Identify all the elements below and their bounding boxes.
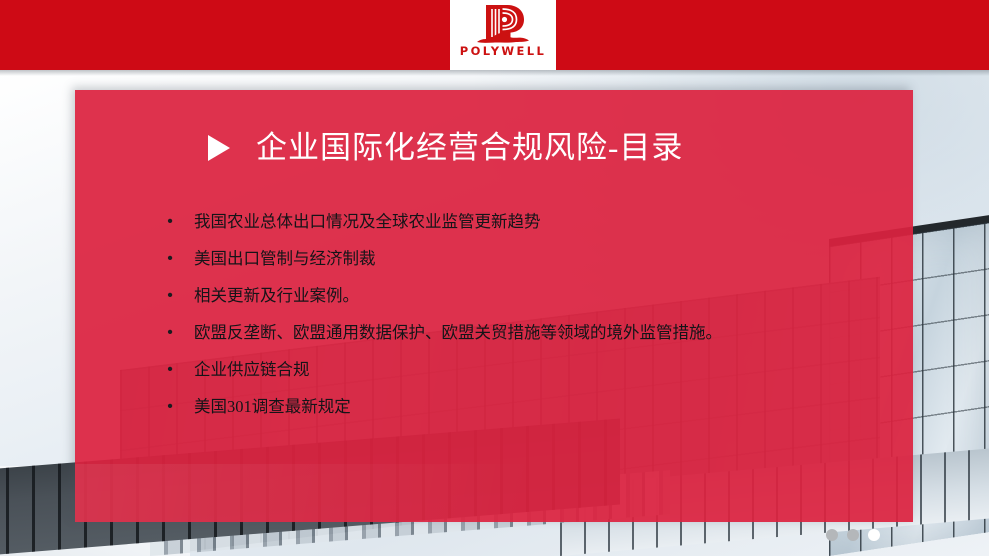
list-item-label: 企业供应链合规 xyxy=(194,360,310,380)
slide-title-row: 企业国际化经营合规风险-目录 xyxy=(208,132,683,163)
list-item[interactable]: • 企业供应链合规 xyxy=(167,360,867,380)
play-triangle-icon xyxy=(208,135,230,161)
polywell-p-logo-icon xyxy=(474,3,532,47)
bullet-marker: • xyxy=(167,397,173,417)
list-item[interactable]: • 我国农业总体出口情况及全球农业监管更新趋势 xyxy=(167,212,867,232)
bullet-marker: • xyxy=(167,323,173,343)
list-item-label: 美国301调查最新规定 xyxy=(194,397,351,417)
bullet-marker: • xyxy=(167,360,173,380)
list-item[interactable]: • 美国出口管制与经济制裁 xyxy=(167,249,867,269)
logo-container: POLYWELL xyxy=(450,0,556,70)
list-item-label: 相关更新及行业案例。 xyxy=(194,286,359,306)
list-item-label: 我国农业总体出口情况及全球农业监管更新趋势 xyxy=(194,212,541,232)
bullet-marker: • xyxy=(167,249,173,269)
presentation-slide: POLYWELL 企业国际化经营合规风险-目录 • 我国农业总体出口情况及全球农… xyxy=(0,0,989,556)
bullet-marker: • xyxy=(167,212,173,232)
list-item[interactable]: • 相关更新及行业案例。 xyxy=(167,286,867,306)
slide-pagination[interactable] xyxy=(826,529,880,541)
page-dot-3[interactable] xyxy=(868,529,880,541)
bullet-marker: • xyxy=(167,286,173,306)
panel-gloss-overlay xyxy=(75,464,913,522)
list-item-label: 欧盟反垄断、欧盟通用数据保护、欧盟关贸措施等领域的境外监管措施。 xyxy=(194,323,722,343)
list-item[interactable]: • 美国301调查最新规定 xyxy=(167,397,867,417)
header-bar: POLYWELL xyxy=(0,0,989,70)
logo-wordmark: POLYWELL xyxy=(460,46,546,58)
list-item[interactable]: • 欧盟反垄断、欧盟通用数据保护、欧盟关贸措施等领域的境外监管措施。 xyxy=(167,323,867,343)
page-dot-1[interactable] xyxy=(826,529,838,541)
page-dot-2[interactable] xyxy=(847,529,859,541)
agenda-list: • 我国农业总体出口情况及全球农业监管更新趋势 • 美国出口管制与经济制裁 • … xyxy=(167,212,867,434)
list-item-label: 美国出口管制与经济制裁 xyxy=(194,249,376,269)
page-title: 企业国际化经营合规风险-目录 xyxy=(256,132,683,163)
header-drop-shadow xyxy=(0,70,989,76)
content-panel: 企业国际化经营合规风险-目录 • 我国农业总体出口情况及全球农业监管更新趋势 •… xyxy=(75,90,913,522)
